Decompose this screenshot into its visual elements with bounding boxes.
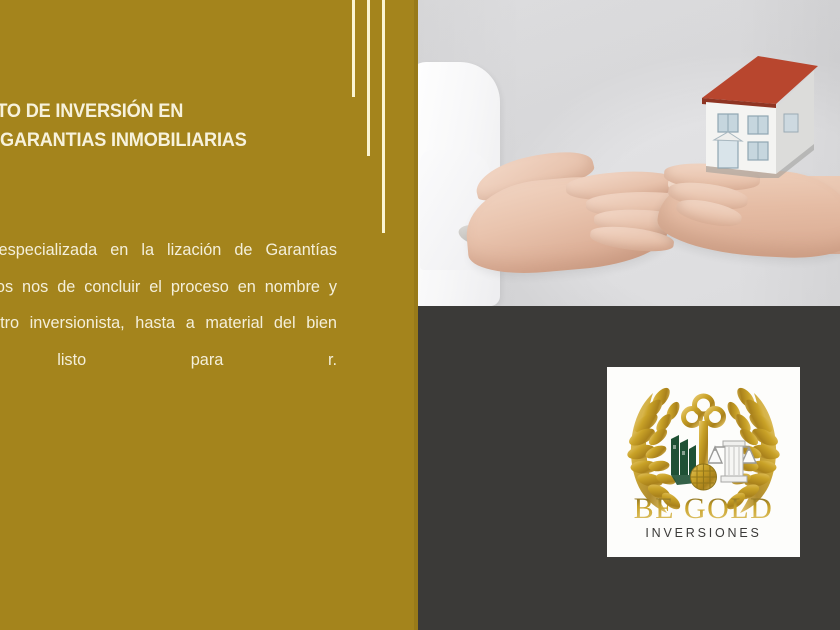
logo-brand-tagline: INVERSIONES <box>645 526 761 540</box>
logo-card: BE GOLD INVERSIONES <box>607 367 800 557</box>
slide-title: STRUMENTO DE INVERSIÓN EN ACIÓN DE GARAN… <box>0 97 317 155</box>
left-gold-panel: STRUMENTO DE INVERSIÓN EN ACIÓN DE GARAN… <box>0 0 417 630</box>
decorative-line-1 <box>352 0 355 97</box>
hands-holding-house-photo <box>418 0 840 306</box>
decorative-line-2 <box>367 0 370 156</box>
decorative-line-3 <box>382 0 385 233</box>
column-icon <box>721 441 747 482</box>
model-house-icon <box>680 46 820 178</box>
be-gold-logo: BE GOLD INVERSIONES <box>607 367 800 557</box>
slide-body-text: una empresa especializada en la lización… <box>0 232 337 415</box>
logo-brand-name: BE GOLD <box>634 492 774 525</box>
